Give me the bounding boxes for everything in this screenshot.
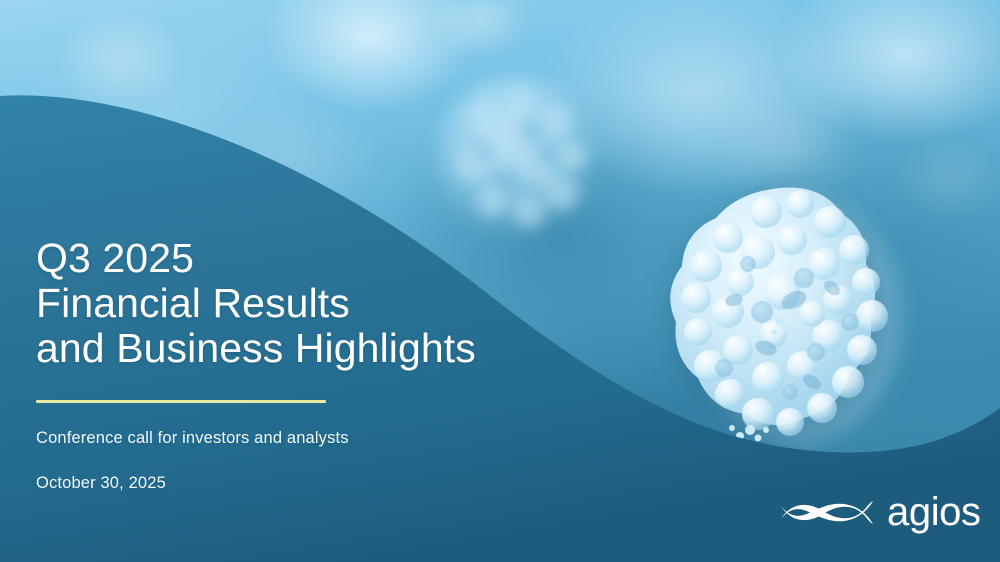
title-slide: Q3 2025 Financial Results and Business H… <box>0 0 1000 562</box>
agios-helix-icon <box>779 489 875 535</box>
subtitle: Conference call for investors and analys… <box>36 429 596 448</box>
agios-wordmark: agios <box>887 492 981 532</box>
accent-rule <box>36 400 326 403</box>
brand-logo: agios <box>779 489 981 535</box>
date-text: October 30, 2025 <box>36 474 596 493</box>
title-line-2: Financial Results <box>36 281 596 326</box>
title-line-1: Q3 2025 <box>36 236 596 281</box>
page-title: Q3 2025 Financial Results and Business H… <box>36 236 596 371</box>
molecule-blurred <box>418 58 623 263</box>
title-line-3: and Business Highlights <box>36 326 596 371</box>
title-block: Q3 2025 Financial Results and Business H… <box>36 236 596 493</box>
molecule-sharp <box>662 182 918 444</box>
